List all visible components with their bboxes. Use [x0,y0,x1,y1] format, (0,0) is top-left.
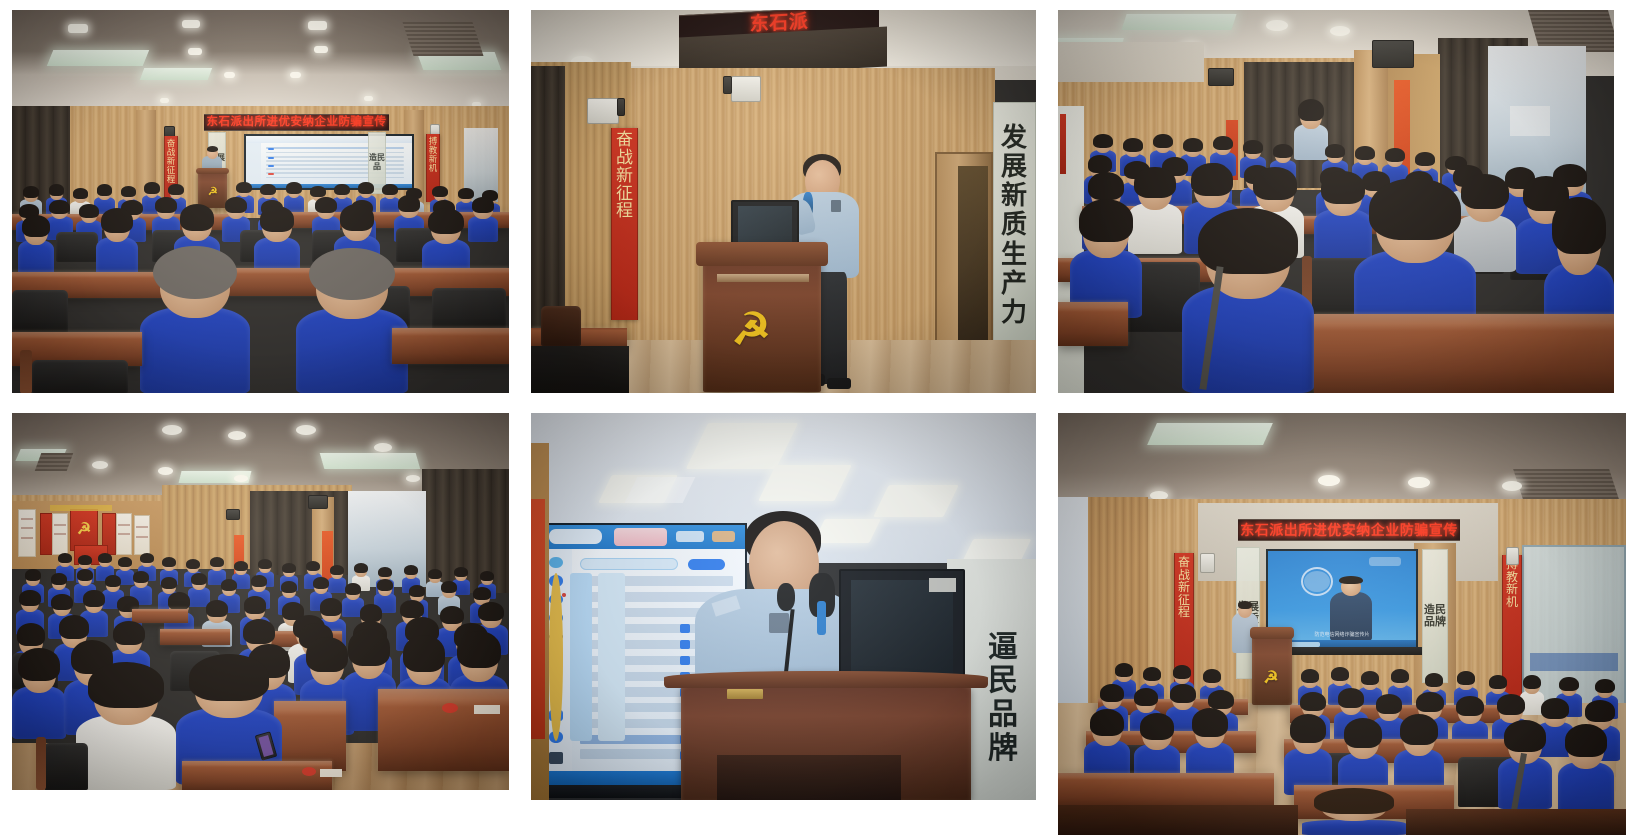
scroll-text: 发展新质生产力 [994,123,1035,327]
calligraphy-scroll-photo5: 逼民品牌 [979,599,1027,797]
party-emblem-icon: ☭ [731,308,770,352]
couplet-photo2: 奋战新征程 [611,128,638,320]
side-door[interactable] [935,152,993,362]
calligraphy-scroll-photo2: 发展新质生产力 [993,102,1036,348]
photo-top-left[interactable]: 东石派出所进优安纳企业防骗宣传 [12,10,509,393]
foreground-person-right [296,256,408,393]
photo-collage: 东石派出所进优安纳企业防骗宣传 [0,0,1626,835]
wall-speaker-left [587,98,619,124]
lectern-monitor-photo5 [839,569,965,687]
audience-photo3 [1058,10,1614,393]
audience-photo4 [12,413,509,790]
audience-photo6 [1058,413,1626,835]
photo-top-right[interactable] [1058,10,1614,393]
photo-bottom-center[interactable]: 逼民品牌 [531,413,1036,800]
foreground-person-white-shirt [76,669,176,790]
couplet-text: 奋战新征程 [612,131,637,220]
foreground-head-photo6 [1302,791,1406,835]
audience-photo1 [12,10,509,393]
scroll-text: 逼民品牌 [979,631,1027,765]
lectern-photo2[interactable]: ☭ [703,242,821,392]
photo-top-center[interactable]: 东石派 发展新质生产力 奋战新征程 [531,10,1036,393]
foreground-person-left [140,254,250,393]
wall-speaker-center [731,76,761,102]
photo-bottom-left[interactable]: ☭ [12,413,509,790]
photo-bottom-right[interactable]: 东石派出所进优安纳企业防骗宣传 防范电信网络诈骗宣传片 奋战新征程 [1058,413,1626,835]
